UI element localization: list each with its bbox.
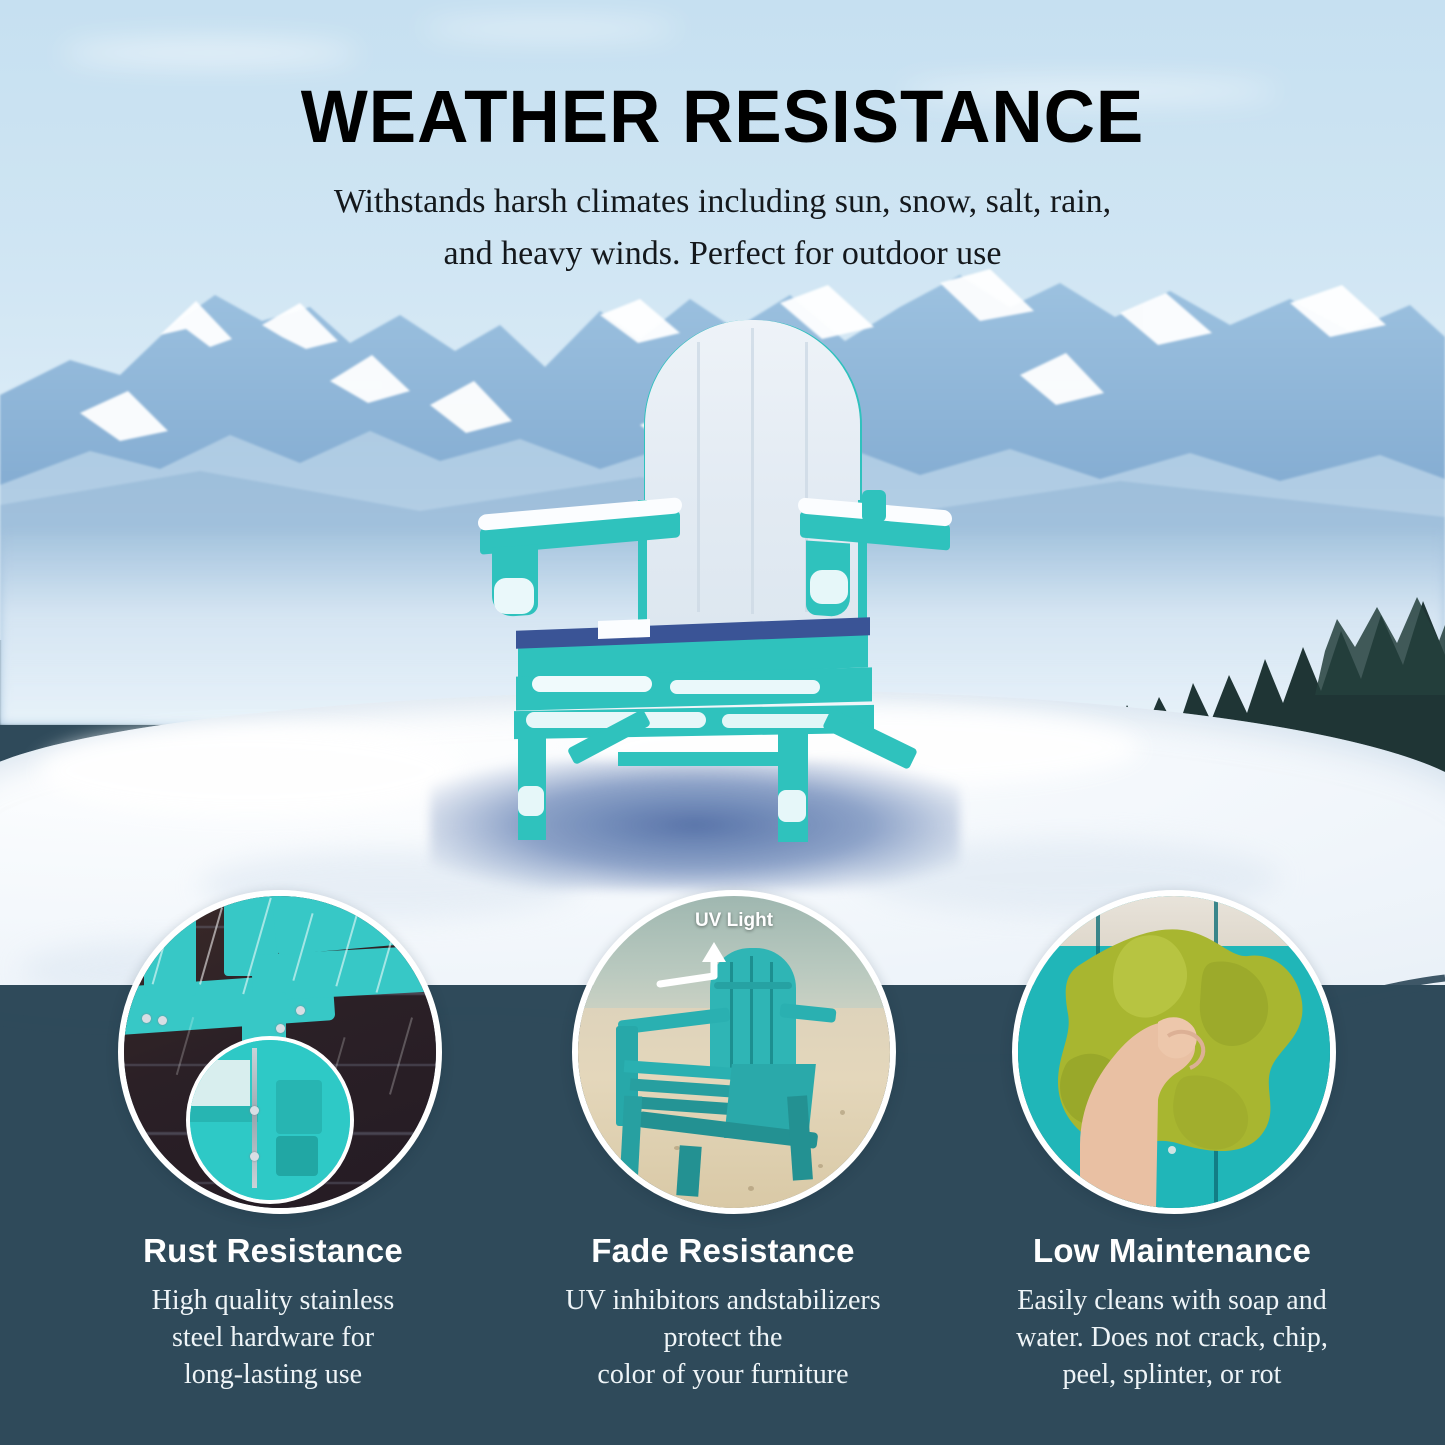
- snow-patch: [494, 578, 534, 614]
- feature-text-fade-resistance: Fade Resistance UV inhibitors andstabili…: [508, 1232, 938, 1393]
- feature-description: High quality stainless steel hardware fo…: [58, 1282, 488, 1393]
- hand: [1018, 896, 1330, 1208]
- snow-patch: [598, 619, 650, 639]
- snow-patch: [778, 790, 806, 822]
- feature-desc-line: long-lasting use: [184, 1359, 362, 1390]
- feature-desc-line: High quality stainless: [152, 1285, 395, 1316]
- feature-text-low-maintenance: Low Maintenance Easily cleans with soap …: [957, 1232, 1387, 1393]
- feature-image-low-maintenance: [1012, 890, 1336, 1214]
- hero-chair: [470, 320, 940, 840]
- hardware-inset-circle: [186, 1036, 354, 1204]
- snow-patch: [670, 680, 820, 694]
- subtitle-line-1: Withstands harsh climates including sun,…: [0, 176, 1445, 228]
- feature-title: Low Maintenance: [957, 1232, 1387, 1270]
- feature-desc-line: protect the: [664, 1322, 783, 1353]
- feature-text-rust-resistance: Rust Resistance High quality stainless s…: [58, 1232, 488, 1393]
- uv-light-label: UV Light: [695, 910, 773, 932]
- snow-bump: [40, 726, 460, 816]
- page-subtitle: Withstands harsh climates including sun,…: [0, 176, 1445, 280]
- feature-image-rust-resistance: [118, 890, 442, 1214]
- feature-desc-line: peel, splinter, or rot: [1063, 1359, 1282, 1390]
- page-title: WEATHER RESISTANCE: [29, 74, 1416, 159]
- chair-stretcher: [618, 752, 788, 766]
- snow-patch: [532, 676, 652, 692]
- feature-title: Fade Resistance: [508, 1232, 938, 1270]
- feature-desc-line: water. Does not crack, chip,: [1016, 1322, 1328, 1353]
- feature-description: Easily cleans with soap and water. Does …: [957, 1282, 1387, 1393]
- chair-post: [862, 490, 886, 522]
- uv-arrow-icon: [656, 940, 766, 1000]
- cloud-wisp: [60, 40, 360, 66]
- infographic-canvas: WEATHER RESISTANCE Withstands harsh clim…: [0, 0, 1445, 1445]
- snow-patch: [518, 786, 544, 816]
- wet-wood-background: [124, 896, 436, 1208]
- feature-desc-line: color of your furniture: [597, 1359, 848, 1390]
- feature-desc-line: steel hardware for: [172, 1322, 374, 1353]
- feature-desc-line: Easily cleans with soap and: [1017, 1285, 1326, 1316]
- subtitle-line-2: and heavy winds. Perfect for outdoor use: [0, 228, 1445, 280]
- beach-background: UV Light: [578, 896, 890, 1208]
- feature-description: UV inhibitors andstabilizers protect the…: [508, 1282, 938, 1393]
- feature-title: Rust Resistance: [58, 1232, 488, 1270]
- snow-patch: [810, 570, 848, 604]
- chair-leg-front-right: [778, 732, 808, 842]
- teal-surface-background: [1018, 896, 1330, 1208]
- cloud-wisp: [420, 20, 680, 38]
- feature-desc-line: UV inhibitors andstabilizers: [565, 1285, 880, 1316]
- feature-image-fade-resistance: UV Light: [572, 890, 896, 1214]
